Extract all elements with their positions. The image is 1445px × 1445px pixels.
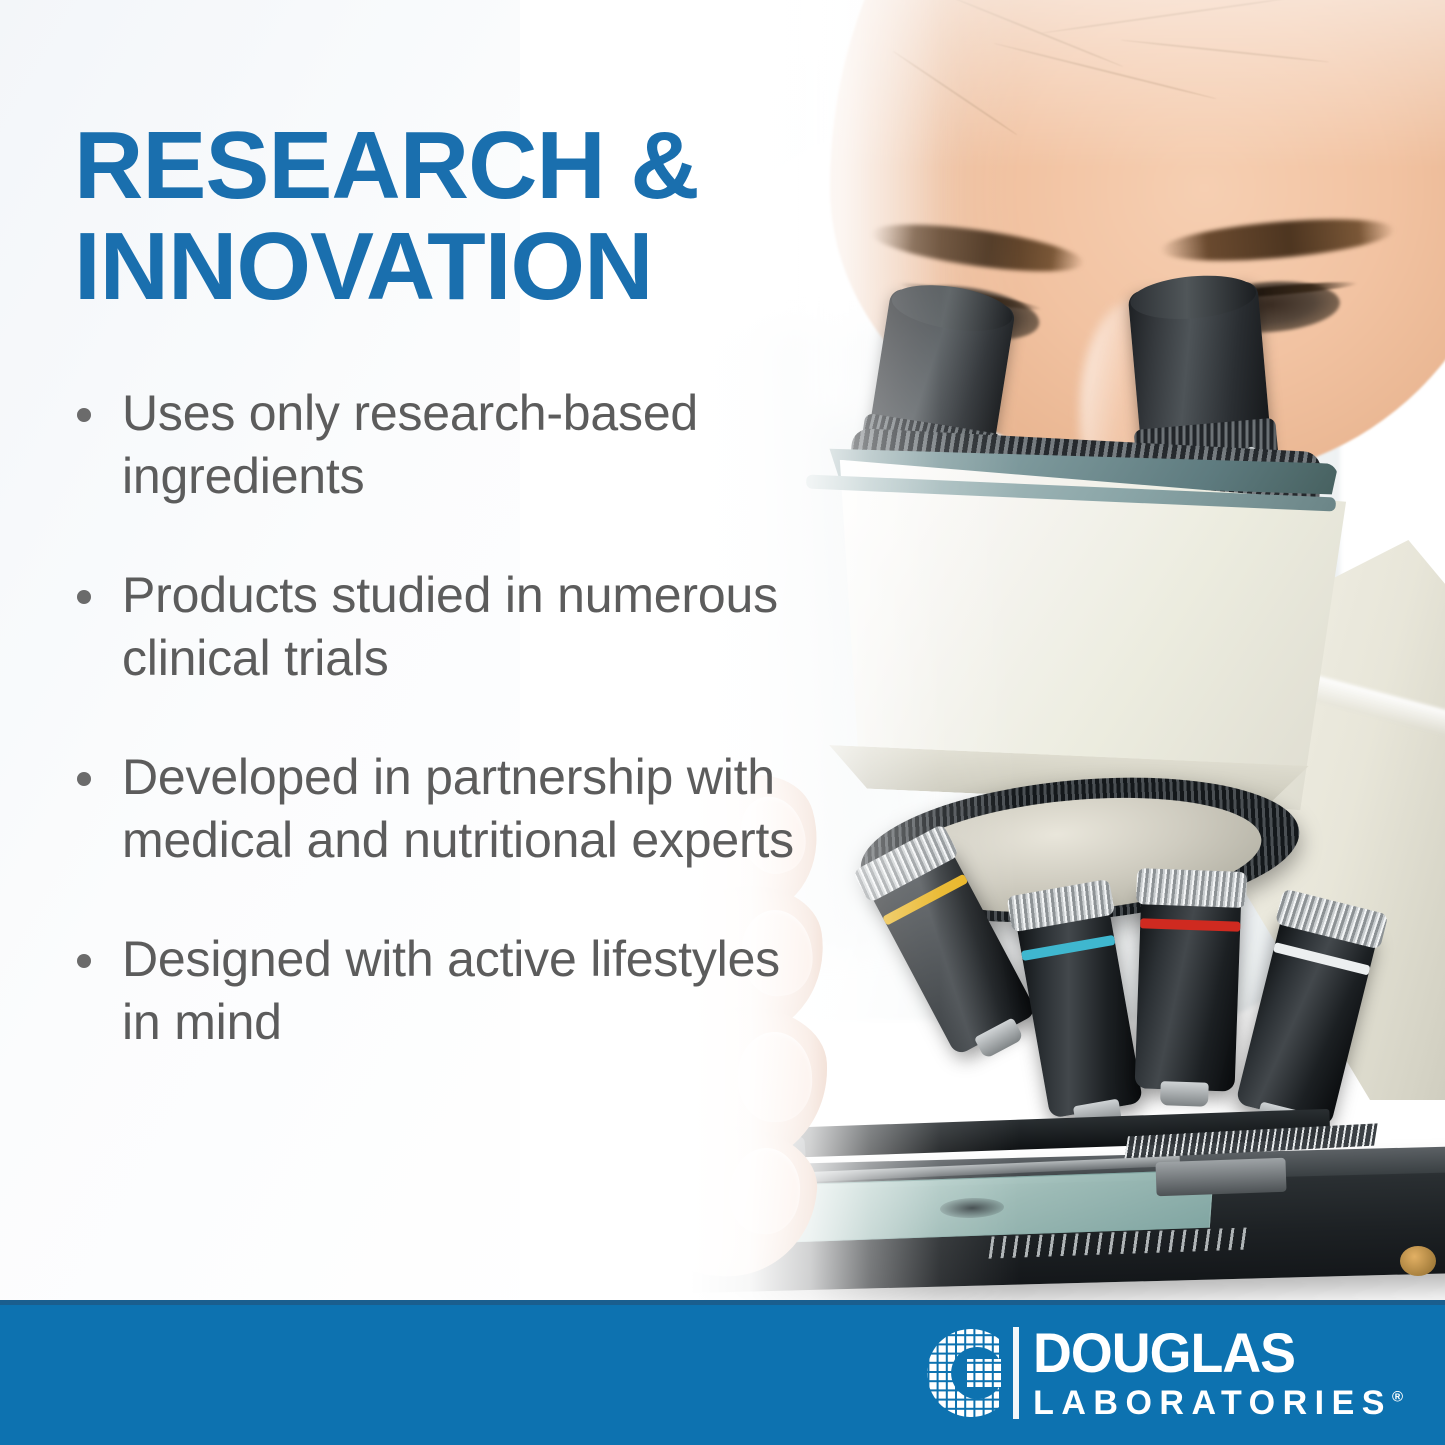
bullet-dot-icon bbox=[77, 590, 91, 604]
slide-holder-finger bbox=[1155, 1158, 1286, 1197]
objective-tip bbox=[1160, 1081, 1209, 1107]
list-item-label: Developed in partnership with medical an… bbox=[122, 749, 794, 868]
list-item: Designed with active lifestyles in mind bbox=[74, 928, 804, 1054]
list-item: Uses only research-based ingredients bbox=[74, 382, 804, 508]
list-item-label: Products studied in numerous clinical tr… bbox=[122, 567, 778, 686]
page-title: RESEARCH &INNOVATION bbox=[74, 116, 774, 318]
list-item-label: Uses only research-based ingredients bbox=[122, 385, 698, 504]
objective-color-band-cyan bbox=[1021, 935, 1115, 961]
list-item: Products studied in numerous clinical tr… bbox=[74, 564, 804, 690]
benefits-list: Uses only research-based ingredients Pro… bbox=[74, 382, 804, 1054]
objective-color-band-white bbox=[1273, 942, 1371, 975]
logo-divider bbox=[1013, 1327, 1019, 1419]
objective-collar bbox=[1136, 868, 1247, 908]
bullet-dot-icon bbox=[77, 408, 91, 422]
bullet-dot-icon bbox=[77, 772, 91, 786]
objective-color-band-red bbox=[1140, 918, 1240, 931]
promo-graphic: RESEARCH &INNOVATION Uses only research-… bbox=[0, 0, 1445, 1445]
brand-footer-bar: DOUGLAS LABORATORIES® bbox=[0, 1300, 1445, 1445]
logo-wordmark: DOUGLAS LABORATORIES® bbox=[1033, 1325, 1403, 1422]
bullet-dot-icon bbox=[77, 954, 91, 968]
logo-name-top: DOUGLAS bbox=[1033, 1325, 1388, 1381]
douglas-grid-c-logo-icon bbox=[909, 1325, 1005, 1421]
registered-trademark-icon: ® bbox=[1392, 1389, 1403, 1406]
logo-name-bottom: LABORATORIES® bbox=[1033, 1385, 1403, 1422]
douglas-laboratories-logo: DOUGLAS LABORATORIES® bbox=[909, 1325, 1403, 1422]
logo-name-bottom-text: LABORATORIES bbox=[1033, 1384, 1392, 1422]
headline-line-2: INNOVATION bbox=[74, 213, 652, 320]
objective-lens-red bbox=[1135, 888, 1242, 1091]
stage-brass-fitting bbox=[1400, 1246, 1436, 1276]
list-item: Developed in partnership with medical an… bbox=[74, 746, 804, 872]
headline-line-1: RESEARCH & bbox=[74, 112, 699, 219]
list-item-label: Designed with active lifestyles in mind bbox=[122, 931, 780, 1050]
